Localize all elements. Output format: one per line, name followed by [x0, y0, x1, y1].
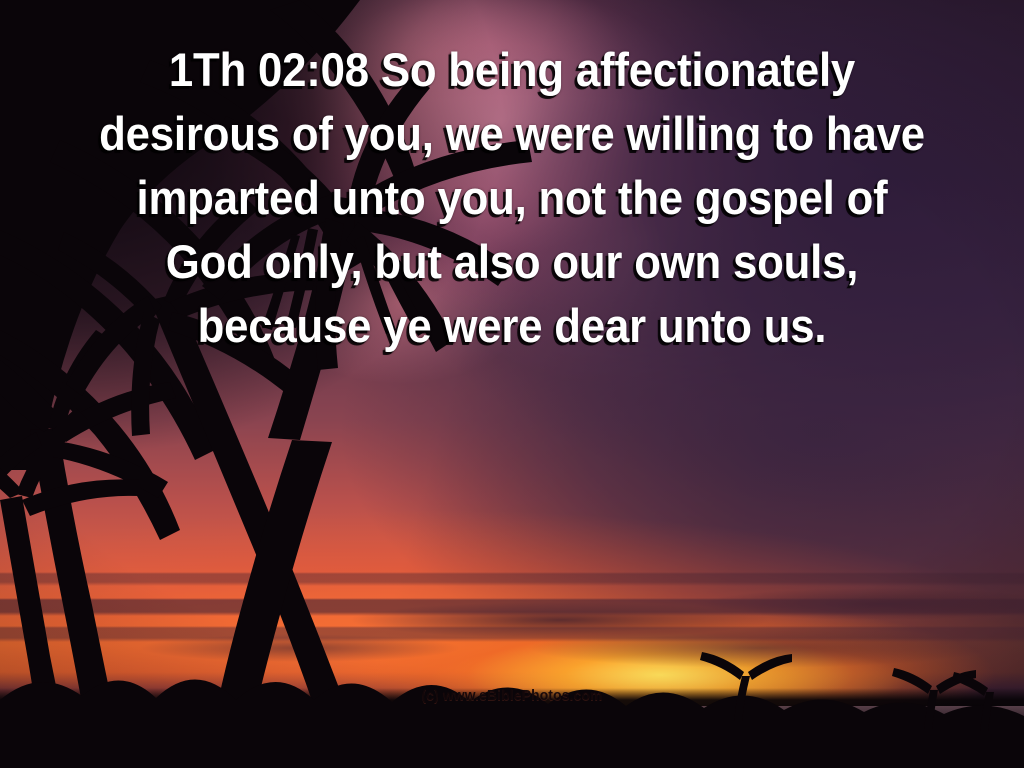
- verse-image-canvas: 1Th 02:08 So being affectionately desiro…: [0, 0, 1024, 768]
- watermark-text: (c) www.eBiblePhotos.com: [41, 687, 983, 704]
- palm-tree-silhouettes: [0, 0, 1024, 768]
